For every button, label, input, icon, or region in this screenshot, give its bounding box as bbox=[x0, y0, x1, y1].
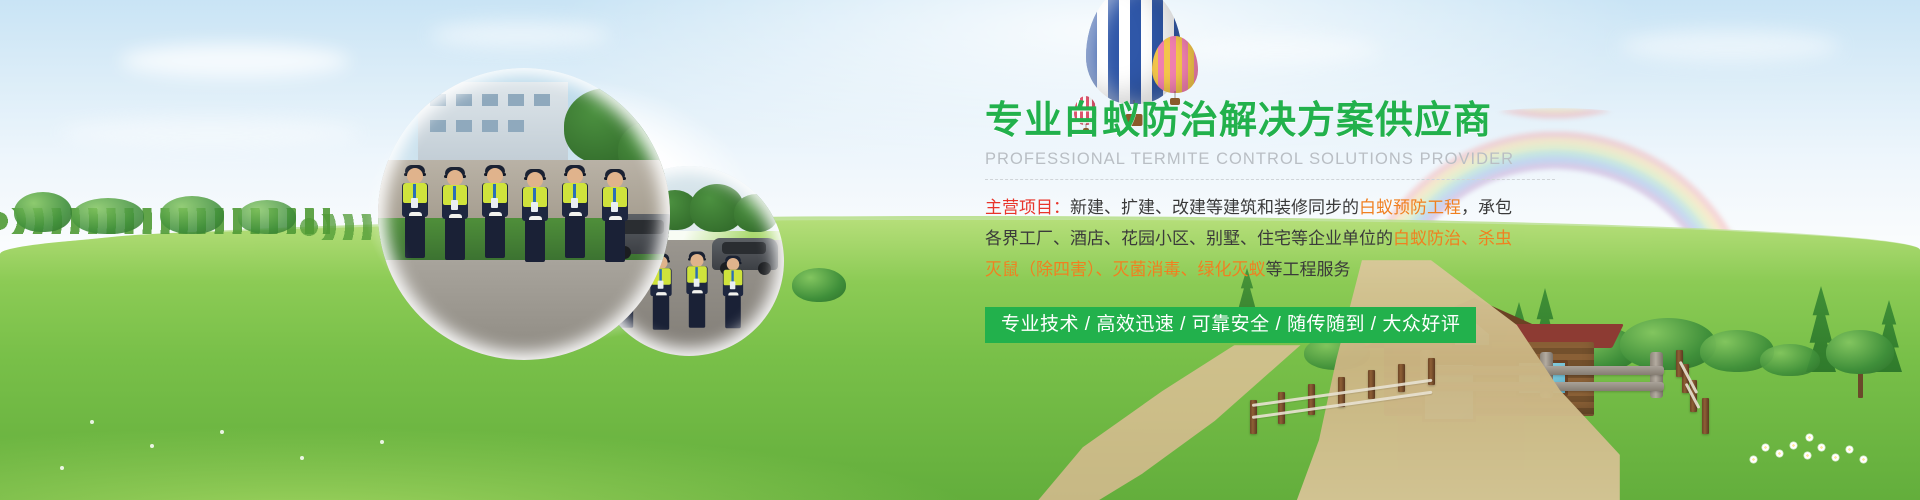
description-line-1: 主营项目：新建、扩建、改建等建筑和装修同步的白蚁预防工程，承包 bbox=[985, 192, 1585, 223]
tree-blob bbox=[1826, 330, 1894, 374]
daisy-flower bbox=[1832, 454, 1839, 461]
fence-post bbox=[1702, 398, 1709, 434]
line1-text-b: ，承包 bbox=[1461, 198, 1512, 217]
page-subtitle: PROFESSIONAL TERMITE CONTROL SOLUTIONS P… bbox=[985, 146, 1685, 172]
small-flower bbox=[150, 444, 154, 448]
cloud bbox=[1620, 30, 1840, 62]
page-title: 专业白蚁防治解决方案供应商 bbox=[985, 96, 1685, 146]
colon: ： bbox=[1053, 198, 1070, 217]
promo-description: 主营项目：新建、扩建、改建等建筑和装修同步的白蚁预防工程，承包 各界工厂、酒店、… bbox=[985, 192, 1585, 285]
daisy-flower bbox=[1818, 444, 1825, 451]
line2-highlight: 白蚁防治、杀虫 bbox=[1393, 229, 1512, 248]
small-flower bbox=[220, 430, 224, 434]
daisy-flower bbox=[1804, 452, 1811, 459]
small-flower bbox=[300, 456, 304, 460]
daisy-flower bbox=[1762, 444, 1769, 451]
promo-text-block: 专业白蚁防治解决方案供应商 PROFESSIONAL TERMITE CONTR… bbox=[985, 96, 1685, 343]
team-photo-uniformed-staff bbox=[378, 68, 670, 360]
line1-highlight: 白蚁预防工程 bbox=[1359, 198, 1461, 217]
feature-bar-wrap: 专业技术 / 高效迅速 / 可靠安全 / 随传随到 / 大众好评 bbox=[985, 307, 1685, 343]
feature-bar: 专业技术 / 高效迅速 / 可靠安全 / 随传随到 / 大众好评 bbox=[985, 307, 1476, 343]
fence-post bbox=[1398, 364, 1405, 392]
daisy-flower bbox=[1806, 434, 1813, 441]
main-projects-label: 主营项目 bbox=[985, 198, 1053, 217]
line1-text-a: 新建、扩建、改建等建筑和装修同步的 bbox=[1070, 198, 1359, 217]
daisy-flower bbox=[1846, 446, 1853, 453]
description-line-3: 灭鼠（除四害）、灭菌消毒、绿化灭蚁等工程服务 bbox=[985, 254, 1585, 285]
daisy-flower bbox=[1790, 442, 1797, 449]
daisy-flower bbox=[1860, 456, 1867, 463]
fence-post bbox=[1278, 392, 1285, 424]
line3-text-a: 等工程服务 bbox=[1266, 260, 1351, 279]
photo-collage bbox=[352, 58, 772, 358]
tree-blob bbox=[1760, 344, 1820, 376]
small-flower bbox=[90, 420, 94, 424]
small-flower bbox=[60, 466, 64, 470]
small-flower bbox=[380, 440, 384, 444]
tree-blob bbox=[72, 198, 144, 234]
daisy-flower bbox=[1750, 456, 1757, 463]
fence-post bbox=[1368, 370, 1375, 399]
tree-blob bbox=[160, 196, 224, 234]
hot-air-balloon-yellow-pink-icon bbox=[1152, 36, 1198, 93]
divider bbox=[985, 179, 1555, 180]
line2-text-a: 各界工厂、酒店、花园小区、别墅、住宅等企业单位的 bbox=[985, 229, 1393, 248]
fence-post-stone bbox=[1650, 352, 1663, 398]
tree-blob bbox=[14, 192, 72, 232]
promo-banner: 专业白蚁防治解决方案供应商 PROFESSIONAL TERMITE CONTR… bbox=[0, 0, 1920, 500]
line3-highlight: 灭鼠（除四害）、灭菌消毒、绿化灭蚁 bbox=[985, 260, 1266, 279]
description-line-2: 各界工厂、酒店、花园小区、别墅、住宅等企业单位的白蚁防治、杀虫 bbox=[985, 223, 1585, 254]
cloud bbox=[1180, 36, 1380, 64]
daisy-flower bbox=[1776, 450, 1783, 457]
tree-blob bbox=[238, 200, 296, 234]
photo-feather-edge bbox=[378, 68, 670, 360]
